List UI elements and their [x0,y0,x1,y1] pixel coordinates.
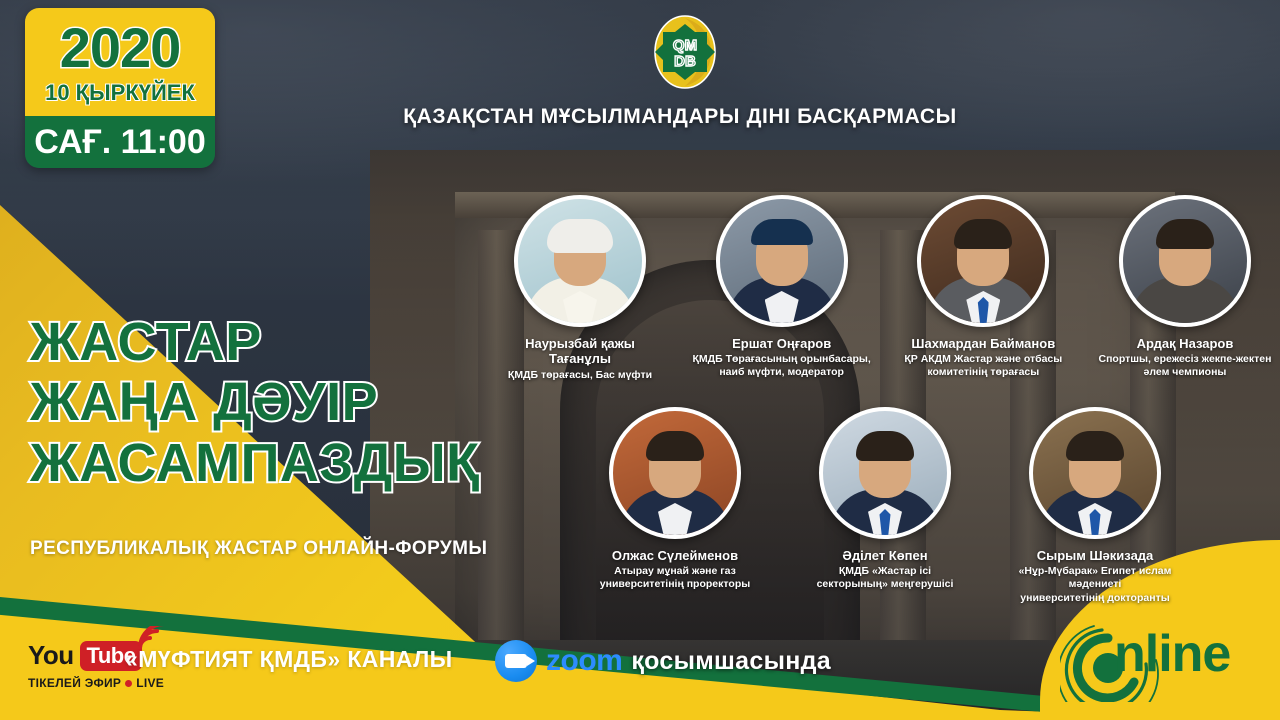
speaker-role-line: секторының» меңгерушісі [790,578,980,591]
speaker-role-line: ҚР АКДМ Жастар және отбасы [888,353,1078,366]
speaker-role-line: наиб мүфти, модератор [687,366,877,379]
speaker-name-line: Ершат Оңғаров [687,336,877,351]
speaker-role-line: ҚМДБ төрағасы, Бас мүфти [485,369,675,382]
zoom-camera-icon[interactable] [495,640,537,682]
speaker-name-line: Сырым Шәкизада [1000,548,1190,563]
youtube-channel-name: «МҮФТИЯТ ҚМДБ» КАНАЛЫ [125,646,453,673]
speaker-role: ҚМДБ төрағасы, Бас мүфти [485,369,675,382]
live-badge: LIVE [136,676,164,690]
speaker-name: Шахмардан Байманов [888,336,1078,351]
speaker-card: Ершат Оңғаров ҚМДБ Төрағасының орынбасар… [687,195,877,382]
speaker-name-line: Наурызбай қажы [485,336,675,351]
event-year: 2020 [60,20,181,76]
speaker-role: ҚР АКДМ Жастар және отбасы комитетінің т… [888,353,1078,379]
speaker-card: Әділет Көпен ҚМДБ «Жастар ісі секторының… [790,407,980,605]
speakers-section: Наурызбай қажы Тағанұлы ҚМДБ төрағасы, Б… [470,195,1280,595]
speaker-role: Атырау мұнай және газ университетінің пр… [580,565,770,591]
speaker-name: Әділет Көпен [790,548,980,563]
svg-text:QM: QM [673,37,697,54]
speakers-row-2: Олжас Сүлейменов Атырау мұнай және газ у… [580,407,1190,605]
qmdb-logo-icon: QM DB [645,12,725,92]
speaker-role: ҚМДБ Төрағасының орынбасары, наиб мүфти,… [687,353,877,379]
speaker-role-line: университетінің проректоры [580,578,770,591]
speaker-name: Олжас Сүлейменов [580,548,770,563]
title-line-1: ЖАСТАР [30,312,510,372]
speaker-role-line: Спортшы, ережесіз жекпе-жектен [1090,353,1280,366]
organization-title: ҚАЗАҚСТАН МҰСЫЛМАНДАРЫ ДІНІ БАСҚАРМАСЫ [340,105,1020,129]
date-badge-bottom: САҒ. 11:00 [25,116,215,168]
speaker-role: Спортшы, ережесіз жекпе-жектен әлем чемп… [1090,353,1280,379]
zoom-wordmark: zoom [546,646,622,676]
live-status: ТІКЕЛЕЙ ЭФИР LIVE [28,676,388,690]
avatar [609,407,741,539]
speaker-card: Сырым Шәкизада «Нұр-Мүбарак» Египет исла… [1000,407,1190,605]
speaker-card: Шахмардан Байманов ҚР АКДМ Жастар және о… [888,195,1078,382]
zoom-caption: қосымшасында [631,647,831,676]
speaker-name: Ардақ Назаров [1090,336,1280,351]
avatar [819,407,951,539]
speaker-role: «Нұр-Мүбарак» Египет ислам мәдениеті уни… [1000,565,1190,604]
avatar [1119,195,1251,327]
speaker-role-line: ҚМДБ Төрағасының орынбасары, [687,353,877,366]
avatar [514,195,646,327]
date-badge-top: 2020 10 ҚЫРКҮЙЕК [25,8,215,116]
speaker-role: ҚМДБ «Жастар ісі секторының» меңгерушісі [790,565,980,591]
speaker-name-line: Шахмардан Байманов [888,336,1078,351]
online-wordmark: nline [1114,628,1230,680]
avatar [716,195,848,327]
speaker-card: Ардақ Назаров Спортшы, ережесіз жекпе-же… [1090,195,1280,382]
speaker-role-line: «Нұр-Мүбарак» Египет ислам мәдениеті [1000,565,1190,591]
speaker-name: Ершат Оңғаров [687,336,877,351]
date-badge: 2020 10 ҚЫРКҮЙЕК САҒ. 11:00 [25,8,215,168]
speaker-card: Наурызбай қажы Тағанұлы ҚМДБ төрағасы, Б… [485,195,675,382]
online-logo: nline [1060,622,1260,702]
speakers-row-1: Наурызбай қажы Тағанұлы ҚМДБ төрағасы, Б… [485,195,1280,382]
main-title: ЖАСТАР ЖАҢА ДӘУІР ЖАСАМПАЗДЫҚ [30,312,510,493]
event-date: 10 ҚЫРКҮЙЕК [45,82,195,104]
event-subtitle: РЕСПУБЛИКАЛЫҚ ЖАСТАР ОНЛАЙН-ФОРУМЫ [30,538,530,560]
speaker-name-line: Олжас Сүлейменов [580,548,770,563]
live-label-kz: ТІКЕЛЕЙ ЭФИР [28,676,121,690]
speaker-role-line: ҚМДБ «Жастар ісі [790,565,980,578]
avatar [917,195,1049,327]
speaker-name-line: Әділет Көпен [790,548,980,563]
speaker-name-line: Тағанұлы [485,351,675,366]
speaker-name: Сырым Шәкизада [1000,548,1190,563]
speaker-role-line: университетінің докторанты [1000,592,1190,605]
speaker-card: Олжас Сүлейменов Атырау мұнай және газ у… [580,407,770,605]
title-line-2: ЖАҢА ДӘУІР [30,372,510,432]
speaker-role-line: Атырау мұнай және газ [580,565,770,578]
svg-text:DB: DB [674,53,696,70]
speaker-name: Наурызбай қажы Тағанұлы [485,336,675,367]
poster-canvas: 2020 10 ҚЫРКҮЙЕК САҒ. 11:00 QM DB ҚАЗАҚС… [0,0,1280,720]
title-line-3: ЖАСАМПАЗДЫҚ [30,433,510,493]
youtube-you-text: You [28,642,74,668]
zoom-block[interactable]: zoom қосымшасында [495,640,831,682]
event-time: САҒ. 11:00 [34,125,206,159]
speaker-role-line: комитетінің төрағасы [888,366,1078,379]
speaker-name-line: Ардақ Назаров [1090,336,1280,351]
avatar [1029,407,1161,539]
speaker-role-line: әлем чемпионы [1090,366,1280,379]
live-dot-icon [125,680,132,687]
